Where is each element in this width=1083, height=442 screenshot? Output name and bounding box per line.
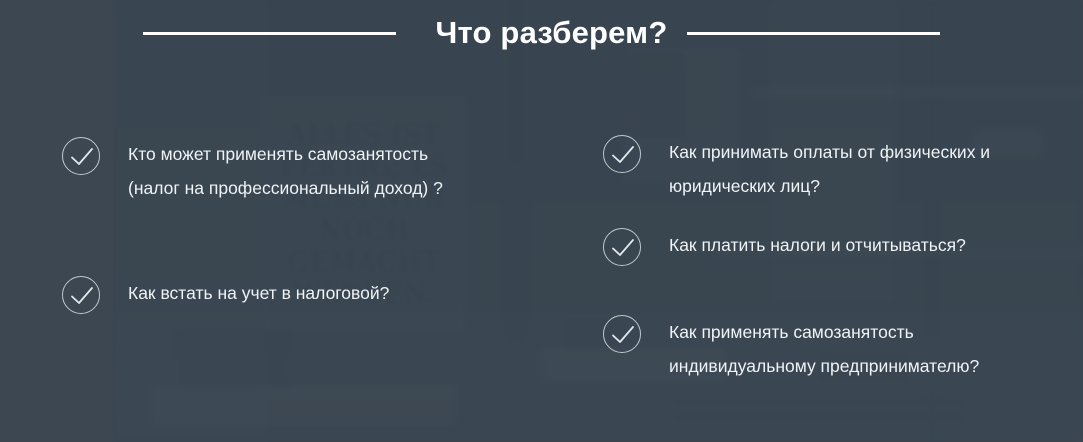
list-item-label: Как принимать оплаты от физических и юри… <box>669 135 1029 203</box>
left-gutter <box>0 0 113 442</box>
slide-root: Alles ist fertig; es muss nur noch gemac… <box>0 0 1083 442</box>
page-title: Что разберем? <box>436 15 668 51</box>
list-item[interactable]: Как встать на учет в налоговой? <box>62 276 389 314</box>
list-item-label: Кто может применять самозанятость (налог… <box>128 137 468 205</box>
check-circle-icon <box>603 135 641 173</box>
list-item[interactable]: Кто может применять самозанятость (налог… <box>62 137 468 205</box>
list-item-label: Как применять самозанятость индивидуальн… <box>669 315 1029 383</box>
check-circle-icon <box>62 137 100 175</box>
list-item-label: Как встать на учет в налоговой? <box>128 276 389 310</box>
header-rule-right <box>687 32 940 35</box>
check-circle-icon <box>603 315 641 353</box>
list-item[interactable]: Как принимать оплаты от физических и юри… <box>603 135 1029 203</box>
header-rule-left <box>143 32 396 35</box>
list-item[interactable]: Как применять самозанятость индивидуальн… <box>603 315 1029 383</box>
list-item-label: Как платить налоги и отчитываться? <box>669 228 966 262</box>
header: Что разберем? <box>0 8 1083 58</box>
check-circle-icon <box>62 276 100 314</box>
check-circle-icon <box>603 228 641 266</box>
list-item[interactable]: Как платить налоги и отчитываться? <box>603 228 966 266</box>
